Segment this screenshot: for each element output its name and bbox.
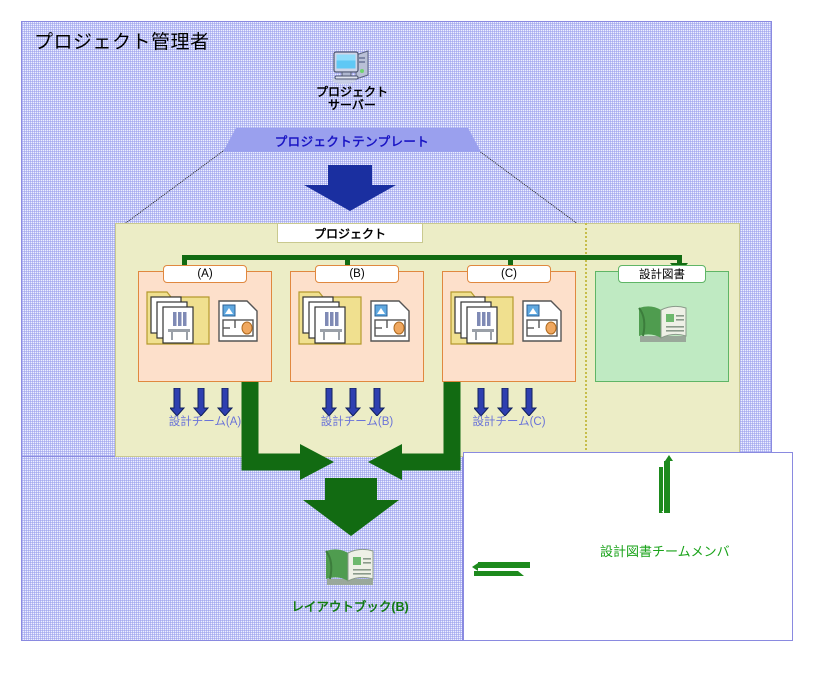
project-divider-line xyxy=(585,223,587,470)
layout-book-caption: レイアウトブック(B) xyxy=(250,596,450,615)
banner-label: プロジェクトテンプレート xyxy=(223,128,481,152)
floor-plan-document-icon xyxy=(369,299,411,343)
drawing-folder-icon xyxy=(298,284,362,346)
server-caption: プロジェクト サーバー xyxy=(280,86,424,112)
team-caption-c: 設計チーム(C) xyxy=(442,413,576,429)
blue-double-arrows-icon-a xyxy=(170,388,240,416)
drawing-folder-icon xyxy=(146,284,210,346)
blue-down-arrow-icon xyxy=(300,165,400,211)
subproject-box-c[interactable] xyxy=(442,271,576,382)
green-book-icon xyxy=(323,545,377,589)
diagram-canvas: プロジェクト管理者 プロジェクト サーバー プロジェクトテンプレート xyxy=(0,0,820,680)
subproject-tag-b: (B) xyxy=(315,265,399,283)
subproject-tag-c: (C) xyxy=(467,265,551,283)
project-template-banner[interactable]: プロジェクトテンプレート xyxy=(223,128,481,152)
docs-team-caption: 設計図書チームメンバ xyxy=(600,541,730,560)
team-caption-b: 設計チーム(B) xyxy=(290,413,424,429)
blue-double-arrows-icon-c xyxy=(474,388,544,416)
blue-double-arrows-icon-b xyxy=(322,388,392,416)
subproject-box-a[interactable] xyxy=(138,271,272,382)
page-title: プロジェクト管理者 xyxy=(34,27,210,54)
team-caption-a: 設計チーム(A) xyxy=(138,413,272,429)
design-docs-box[interactable] xyxy=(595,271,729,382)
subproject-tag-a: (A) xyxy=(163,265,247,283)
floor-plan-document-icon xyxy=(217,299,259,343)
drawing-folder-icon xyxy=(450,284,514,346)
green-up-arrow-icon xyxy=(655,455,681,513)
design-docs-tag: 設計図書 xyxy=(618,265,706,283)
server-caption-line2: サーバー xyxy=(280,99,424,112)
subproject-box-b[interactable] xyxy=(290,271,424,382)
green-book-icon xyxy=(636,302,690,346)
server-computer-icon xyxy=(330,47,374,85)
floor-plan-document-icon xyxy=(521,299,563,343)
green-left-arrow-icon xyxy=(472,557,530,579)
tree-horizontal-line xyxy=(182,255,682,260)
project-tag: プロジェクト xyxy=(277,223,423,243)
